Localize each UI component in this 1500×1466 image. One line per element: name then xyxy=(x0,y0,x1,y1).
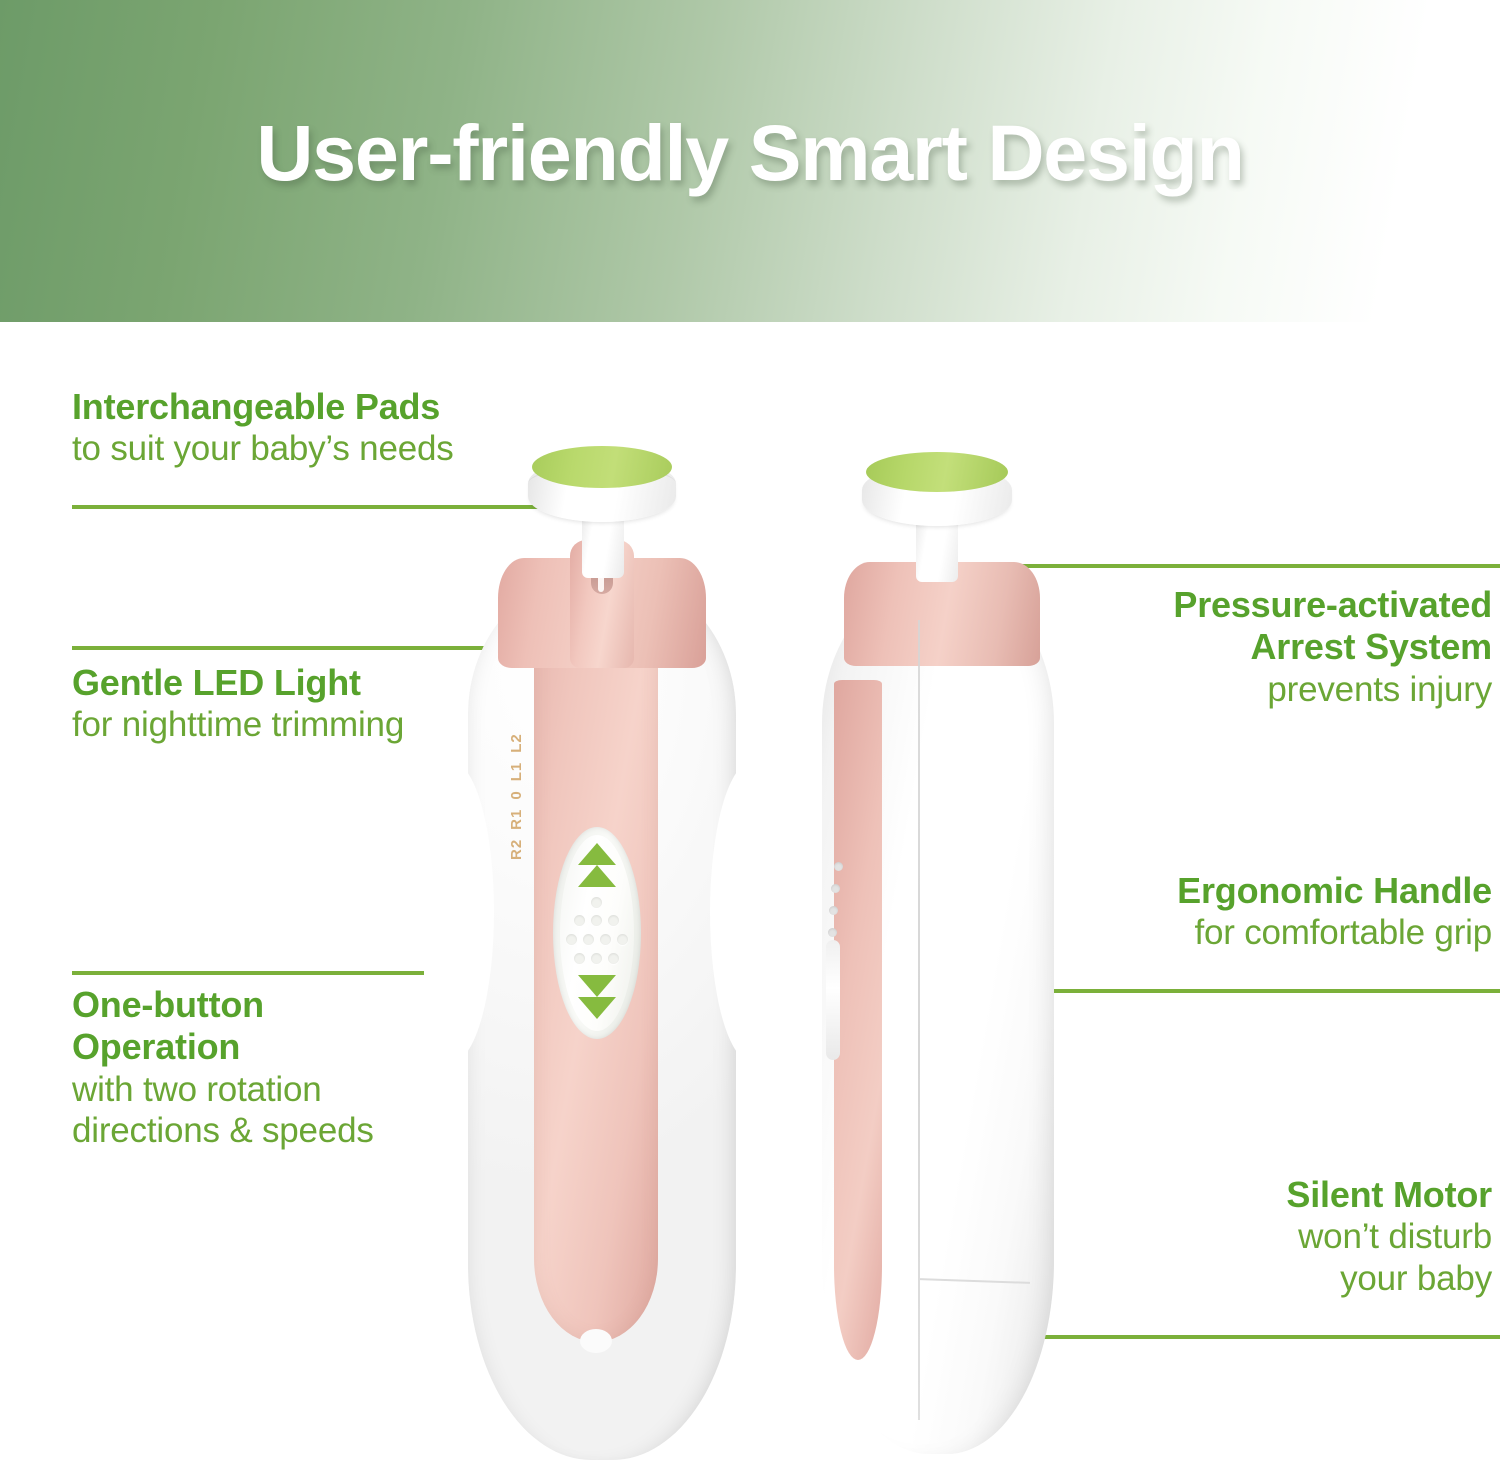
callout-heading: Ergonomic Handle xyxy=(892,870,1492,912)
button-texture-dot xyxy=(608,915,619,926)
side-button-edge[interactable] xyxy=(826,940,840,1060)
callout-subtext: prevents injury xyxy=(892,669,1492,710)
button-texture-dot xyxy=(591,915,602,926)
callout-pressure-activated-arrest-system: Pressure-activated Arrest System prevent… xyxy=(892,584,1492,710)
callout-heading-line-1: Pressure-activated xyxy=(892,584,1492,626)
button-texture-dot xyxy=(583,934,594,945)
header-banner: User-friendly Smart Design xyxy=(0,0,1500,322)
callout-gentle-led-light: Gentle LED Light for nighttime trimming xyxy=(72,662,612,746)
callout-heading-line-2: Arrest System xyxy=(892,626,1492,668)
body-seam-line xyxy=(918,620,920,1420)
callout-interchangeable-pads: Interchangeable Pads to suit your baby’s… xyxy=(72,386,612,470)
chevron-up-icon-2 xyxy=(578,865,616,887)
side-texture-dot xyxy=(831,884,840,893)
mode-label-l1: L1 xyxy=(508,762,525,782)
callout-silent-motor: Silent Motor won’t disturb your baby xyxy=(892,1174,1492,1299)
leader-line-silent xyxy=(1019,1335,1500,1339)
button-texture-dot xyxy=(617,934,628,945)
callout-subtext-line-1: with two rotation xyxy=(72,1069,632,1110)
mode-label-r2: R2 xyxy=(508,839,525,860)
button-texture-dot xyxy=(574,915,585,926)
callout-heading: Interchangeable Pads xyxy=(72,386,612,428)
callout-subtext: for comfortable grip xyxy=(892,912,1492,953)
callout-heading: Gentle LED Light xyxy=(72,662,612,704)
side-texture-dot xyxy=(828,928,837,937)
product-front-view: R2 R1 0 L1 L2 xyxy=(452,462,752,1462)
callout-one-button-operation: One-button Operation with two rotation d… xyxy=(72,984,632,1152)
button-texture-dot xyxy=(608,953,619,964)
callout-subtext-line-2: your baby xyxy=(892,1258,1492,1299)
button-texture-dot xyxy=(591,897,602,908)
callout-subtext: for nighttime trimming xyxy=(72,704,612,745)
button-texture-dot xyxy=(600,934,611,945)
pink-side-strip xyxy=(834,680,882,1360)
button-texture-dot xyxy=(566,934,577,945)
rotation-mode-labels: R2 R1 0 L1 L2 xyxy=(508,733,525,860)
chevron-up-icon xyxy=(578,843,616,865)
mode-label-0: 0 xyxy=(508,790,525,799)
button-texture-dot xyxy=(574,953,585,964)
button-texture-dot xyxy=(591,953,602,964)
callout-ergonomic-handle: Ergonomic Handle for comfortable grip xyxy=(892,870,1492,954)
side-texture-dot xyxy=(829,906,838,915)
mode-label-r1: R1 xyxy=(508,809,525,830)
callout-subtext: to suit your baby’s needs xyxy=(72,428,612,469)
callout-heading: Silent Motor xyxy=(892,1174,1492,1216)
page-title: User-friendly Smart Design xyxy=(0,112,1500,195)
callout-subtext-line-1: won’t disturb xyxy=(892,1216,1492,1257)
infographic-page: User-friendly Smart Design xyxy=(0,0,1500,1466)
side-texture-dot xyxy=(834,862,843,871)
callout-heading-line-1: One-button xyxy=(72,984,632,1026)
interchangeable-pad-side xyxy=(866,452,1008,492)
callout-heading-line-2: Operation xyxy=(72,1026,632,1068)
callout-subtext-line-2: directions & speeds xyxy=(72,1110,632,1151)
